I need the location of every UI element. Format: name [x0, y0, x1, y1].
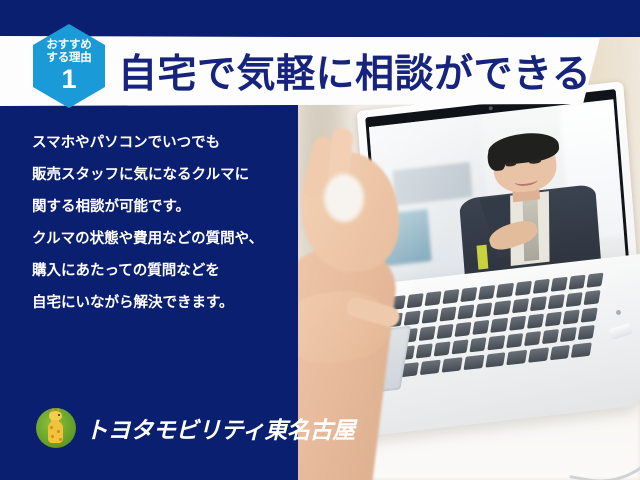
giraffe-mascot-icon: [36, 408, 76, 448]
badge-number: 1: [61, 66, 76, 93]
recommendation-badge: おすすめ する理由 1: [33, 24, 105, 108]
giraffe-horn: [52, 408, 54, 412]
dealer-logo: トヨタモビリティ東名古屋: [36, 408, 355, 448]
giraffe-horn: [57, 408, 59, 412]
body-line: 関する相談が可能です。: [32, 200, 282, 215]
giraffe-spot: [50, 426, 53, 429]
giraffe-eye: [58, 414, 60, 416]
ok-gesture-opening: [324, 174, 364, 222]
badge-text-group: おすすめ する理由 1: [33, 24, 105, 108]
badge-line-2: する理由: [46, 52, 91, 65]
body-line: 販売スタッフに気になるクルマに: [32, 168, 282, 183]
dealer-name: トヨタモビリティ東名古屋: [85, 411, 355, 445]
webcam-icon: [489, 106, 493, 110]
body-line: クルマの状態や費用などの質問や、: [32, 232, 282, 247]
headline-text: 自宅で気軽に相談ができる: [118, 40, 588, 102]
laptop-port-icon: [616, 310, 621, 315]
giraffe-head: [49, 411, 62, 420]
badge-line-1: おすすめ: [46, 39, 91, 52]
person-lanyard: [477, 244, 489, 270]
advertisement-banner: 自宅で気軽に相談ができる おすすめ する理由 1 スマホやパソコンでいつでも 販…: [0, 0, 640, 480]
body-copy: スマホやパソコンでいつでも 販売スタッフに気になるクルマに 関する相談が可能です…: [32, 136, 282, 328]
giraffe-spot: [57, 430, 60, 433]
body-line: スマホやパソコンでいつでも: [32, 136, 282, 151]
laptop: [296, 96, 640, 426]
giraffe-spot: [59, 438, 62, 441]
giraffe-spot: [51, 435, 54, 438]
body-line: 自宅にいながら解決できます。: [32, 296, 282, 311]
person-hair-side: [487, 147, 506, 172]
body-line: 購入にあたっての質問などを: [32, 264, 282, 279]
